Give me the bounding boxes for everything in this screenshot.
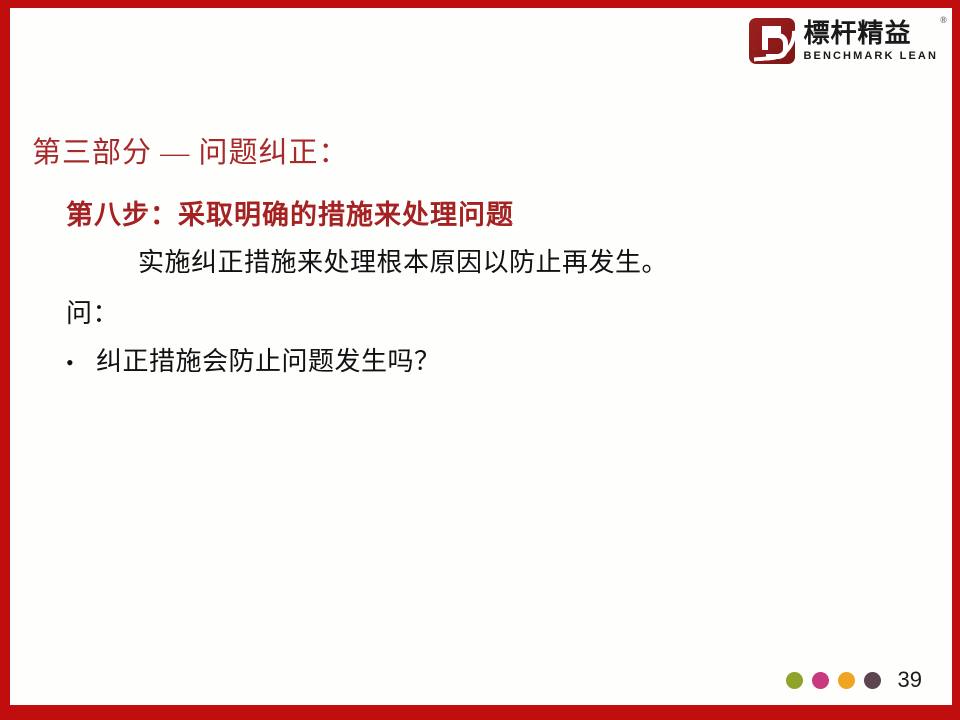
registered-trademark-icon: ® <box>940 16 948 25</box>
dot-olive <box>786 672 803 689</box>
benchmark-lean-logo-mark-icon <box>749 18 795 64</box>
dot-purple <box>864 672 881 689</box>
step-heading: 第八步：采取明确的措施来处理问题 <box>66 199 912 231</box>
bullet-list-item: • 纠正措施会防止问题发生吗？ <box>66 346 912 379</box>
brand-logo-text: 標杆精益 ® BENCHMARK LEAN <box>803 21 938 62</box>
dot-orange <box>838 672 855 689</box>
slide-root: 標杆精益 ® BENCHMARK LEAN 第三部分 — 问题纠正： 第八步：采… <box>0 0 960 720</box>
logo-swoosh-shape <box>753 30 796 61</box>
brand-logo: 標杆精益 ® BENCHMARK LEAN <box>749 18 938 64</box>
bullet-item-text: 纠正措施会防止问题发生吗？ <box>96 346 441 379</box>
brand-name-chinese: 標杆精益 ® <box>803 21 938 47</box>
section-title: 第三部分 — 问题纠正： <box>32 136 912 171</box>
brand-name-chinese-label: 標杆精益 <box>803 19 911 48</box>
bullet-marker-icon: • <box>66 352 96 374</box>
step-body-text: 实施纠正措施来处理根本原因以防止再发生。 <box>138 247 912 280</box>
slide-content: 第三部分 — 问题纠正： 第八步：采取明确的措施来处理问题 实施纠正措施来处理根… <box>32 136 912 379</box>
slide-canvas: 標杆精益 ® BENCHMARK LEAN 第三部分 — 问题纠正： 第八步：采… <box>10 8 952 705</box>
brand-name-english: BENCHMARK LEAN <box>803 51 938 62</box>
page-number: 39 <box>898 669 922 691</box>
dot-magenta <box>812 672 829 689</box>
slide-footer: 39 <box>786 669 922 691</box>
ask-label: 问： <box>66 298 912 331</box>
